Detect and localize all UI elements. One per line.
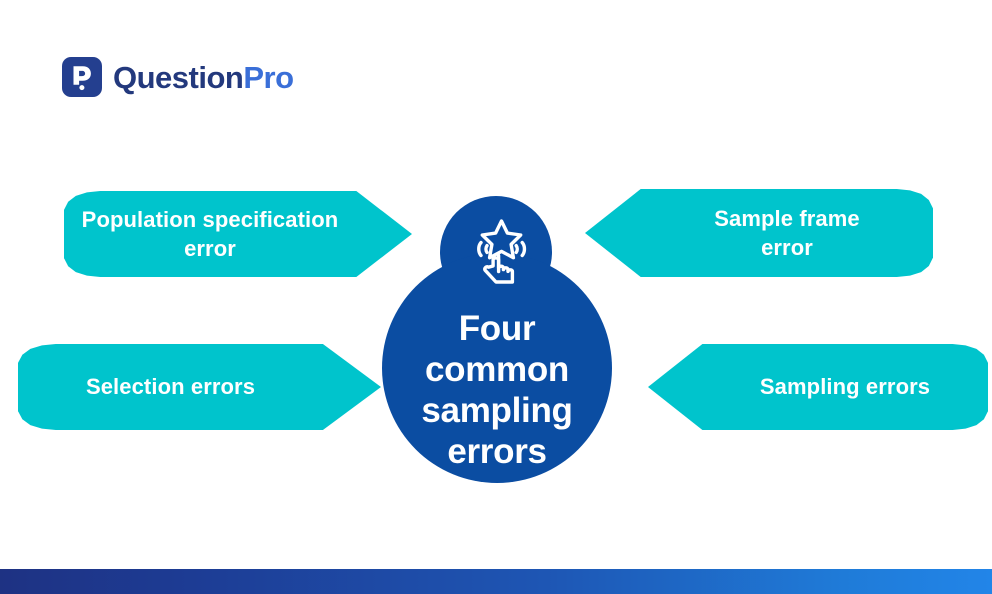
banner-label: Sample frame error (585, 204, 933, 262)
footer-gradient-bar (0, 569, 992, 594)
banner-label: Selection errors (18, 372, 381, 401)
banner-label: Population specification error (64, 205, 412, 263)
logo-word-pro: Pro (243, 60, 293, 95)
banner-sampling-errors[interactable]: Sampling errors (648, 344, 988, 430)
logo-word-question: Question (113, 60, 243, 95)
banner-population-specification-error[interactable]: Population specification error (64, 191, 412, 277)
slide-canvas: QuestionPro Population specification err… (0, 0, 992, 594)
banner-sample-frame-error[interactable]: Sample frame error (585, 189, 933, 277)
questionpro-logo-mark-icon (62, 57, 102, 97)
banner-label: Sampling errors (648, 372, 988, 401)
questionpro-wordmark: QuestionPro (113, 62, 294, 93)
hub-title: Four common sampling errors (392, 263, 602, 473)
banner-selection-errors[interactable]: Selection errors (18, 344, 381, 430)
hub-main-circle[interactable]: Four common sampling errors (382, 253, 612, 483)
questionpro-logo[interactable]: QuestionPro (62, 57, 294, 97)
